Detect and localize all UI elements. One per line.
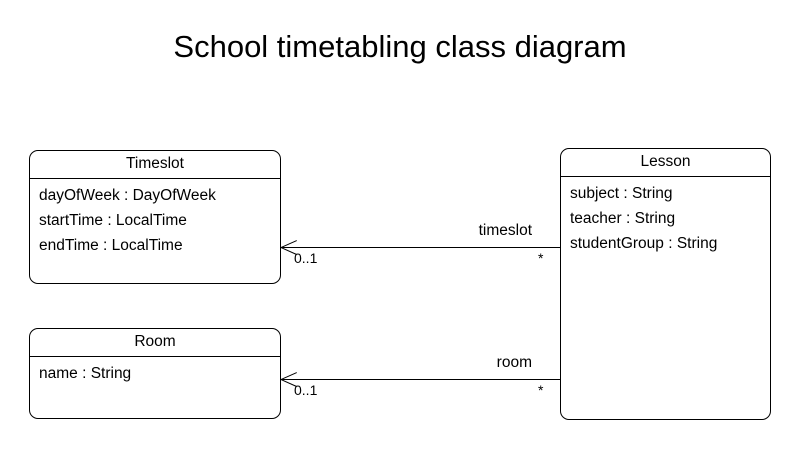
class-attribute: teacher : String	[570, 206, 770, 231]
association-multiplicity-source: *	[538, 250, 543, 267]
class-attributes-timeslot: dayOfWeek : DayOfWeek startTime : LocalT…	[30, 179, 280, 258]
association-multiplicity-target: 0..1	[294, 382, 317, 399]
class-attribute: name : String	[39, 361, 280, 386]
association-multiplicity-source: *	[538, 382, 543, 399]
diagram-canvas: School timetabling class diagram Timeslo…	[0, 0, 800, 450]
association-role-timeslot: timeslot	[380, 222, 532, 240]
uml-class-lesson[interactable]: Lesson subject : String teacher : String…	[560, 148, 771, 420]
class-attribute: startTime : LocalTime	[39, 208, 280, 233]
association-multiplicity-target: 0..1	[294, 250, 317, 267]
class-attribute: endTime : LocalTime	[39, 233, 280, 258]
arrow-barb-upper	[281, 240, 297, 248]
class-attributes-room: name : String	[30, 357, 280, 386]
class-name-room: Room	[30, 329, 280, 357]
association-role-room: room	[380, 354, 532, 372]
arrow-barb-upper	[281, 372, 297, 380]
class-attribute: subject : String	[570, 181, 770, 206]
class-attributes-lesson: subject : String teacher : String studen…	[561, 177, 770, 256]
uml-class-room[interactable]: Room name : String	[29, 328, 281, 419]
class-name-lesson: Lesson	[561, 149, 770, 177]
uml-class-timeslot[interactable]: Timeslot dayOfWeek : DayOfWeek startTime…	[29, 150, 281, 284]
class-name-timeslot: Timeslot	[30, 151, 280, 179]
page-title: School timetabling class diagram	[0, 28, 800, 66]
association-line-room[interactable]	[281, 379, 560, 380]
association-line-timeslot[interactable]	[281, 247, 560, 248]
class-attribute: studentGroup : String	[570, 231, 770, 256]
class-attribute: dayOfWeek : DayOfWeek	[39, 183, 280, 208]
